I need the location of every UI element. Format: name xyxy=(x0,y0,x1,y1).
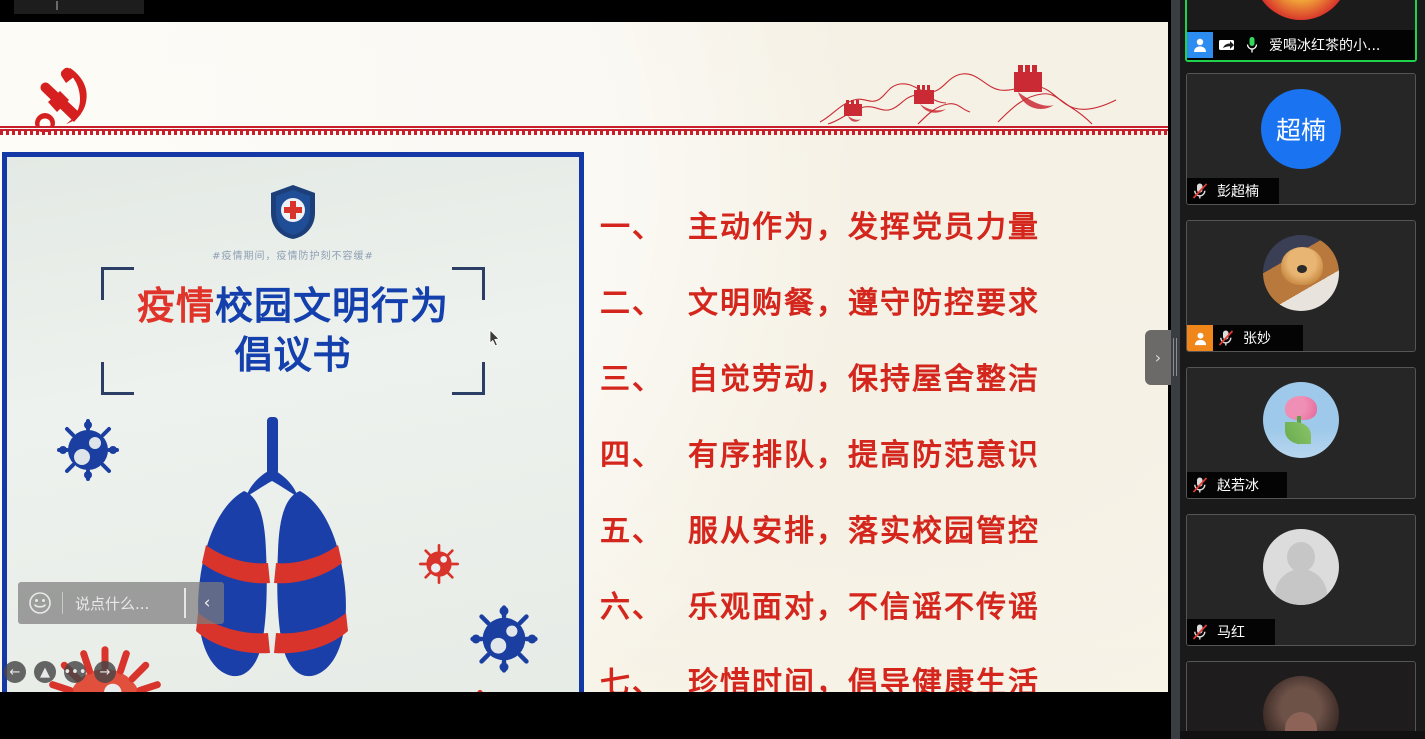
list-item-number: 五、 xyxy=(600,506,688,550)
virus-blue-right-icon xyxy=(467,602,541,676)
participant-tile[interactable]: 马红 xyxy=(1186,514,1416,646)
stage-controls: ← ▲ ••• → xyxy=(2,661,116,683)
avatar-initials: 超楠 xyxy=(1261,89,1341,169)
poster-hashtag: #疫情期间，疫情防护刻不容缓# xyxy=(7,247,579,262)
microphone-muted-icon xyxy=(1187,623,1213,641)
forward-arrow-button[interactable]: → xyxy=(94,661,116,683)
participant-name: 爱喝冰红茶的小... xyxy=(1265,35,1380,55)
avatar xyxy=(1263,382,1339,458)
participant-tile[interactable]: 超楠 彭超楠 xyxy=(1186,73,1416,205)
comment-input[interactable]: 说点什么... xyxy=(63,593,184,614)
participant-tile[interactable]: 张妙 xyxy=(1186,220,1416,352)
grip-line xyxy=(1173,338,1174,376)
collapse-rail-button[interactable]: › xyxy=(1145,330,1171,385)
slide-pledge-list: 一、 主动作为，发挥党员力量 二、 文明购餐，遵守防控要求 三、 自觉劳动，保持… xyxy=(600,202,1140,692)
list-item: 四、 有序排队，提高防范意识 xyxy=(600,430,1140,474)
comment-bar[interactable]: 说点什么... ‹ xyxy=(18,582,224,624)
list-item: 二、 文明购餐，遵守防控要求 xyxy=(600,278,1140,322)
co-host-person-icon xyxy=(1187,325,1213,351)
list-item: 五、 服从安排，落实校园管控 xyxy=(600,506,1140,550)
avatar xyxy=(1263,235,1339,311)
list-item: 三、 自觉劳动，保持屋舍整洁 xyxy=(600,354,1140,398)
more-options-button[interactable]: ••• xyxy=(64,661,86,683)
avatar: 西安加油 xyxy=(1253,0,1349,20)
screen-share-icon xyxy=(1213,32,1239,58)
rail-footer xyxy=(1180,731,1425,739)
avatar xyxy=(1263,676,1339,739)
text-caret xyxy=(56,1,58,10)
smiley-icon[interactable] xyxy=(18,592,62,614)
participant-name: 马红 xyxy=(1213,622,1245,642)
virus-red-small-icon xyxy=(417,542,461,586)
list-item-text: 主动作为，发挥党员力量 xyxy=(688,202,1040,246)
letterbox-bottom xyxy=(0,692,1180,739)
default-person-placeholder-icon xyxy=(1263,529,1339,605)
list-item-number: 三、 xyxy=(600,354,688,398)
list-item-text: 珍惜时间，倡导健康生活 xyxy=(688,658,1040,692)
microphone-muted-icon xyxy=(1187,476,1213,494)
decorative-rule xyxy=(0,126,1168,131)
list-item-number: 四、 xyxy=(600,430,688,474)
list-item-text: 自觉劳动，保持屋舍整洁 xyxy=(688,354,1040,398)
rail-resize-grip[interactable] xyxy=(1171,0,1180,739)
slide-header-band xyxy=(0,22,1168,130)
microphone-muted-icon xyxy=(1213,329,1239,347)
list-item-text: 文明购餐，遵守防控要求 xyxy=(688,278,1040,322)
tile-name-bar: 马红 xyxy=(1187,619,1275,645)
party-emblem-hammer-sickle-icon xyxy=(30,64,102,132)
list-item-text: 乐观面对，不信谣不传谣 xyxy=(688,582,1040,626)
poster-title-line2: 倡议书 xyxy=(234,333,351,377)
participant-tile[interactable] xyxy=(1186,661,1416,739)
list-item-text: 有序排队，提高防范意识 xyxy=(688,430,1040,474)
list-item-text: 服从安排，落实校园管控 xyxy=(688,506,1040,550)
grip-line xyxy=(1176,338,1177,376)
poster-title-red: 疫情 xyxy=(137,284,215,328)
microphone-on-icon xyxy=(1239,36,1265,54)
tile-name-bar: 爱喝冰红茶的小... xyxy=(1187,30,1417,60)
tile-name-bar: 彭超楠 xyxy=(1187,178,1279,204)
list-item-number: 二、 xyxy=(600,278,688,322)
participant-rail[interactable]: 西安加油 爱喝冰红茶的小... 超楠 xyxy=(1180,0,1425,739)
virus-blue-top-icon xyxy=(55,417,121,483)
upload-button[interactable]: ▲ xyxy=(34,661,56,683)
participant-name: 彭超楠 xyxy=(1213,181,1259,201)
participant-tile[interactable]: 赵若冰 xyxy=(1186,367,1416,499)
list-item-number: 六、 xyxy=(600,582,688,626)
participant-tile[interactable]: 西安加油 爱喝冰红茶的小... xyxy=(1185,0,1417,62)
tile-name-bar: 张妙 xyxy=(1187,325,1303,351)
host-person-icon xyxy=(1187,32,1213,58)
list-item-number: 七、 xyxy=(600,658,688,692)
letterbox-top xyxy=(0,0,1180,22)
list-item: 六、 乐观面对，不信谣不传谣 xyxy=(600,582,1140,626)
back-arrow-button[interactable]: ← xyxy=(4,661,26,683)
list-item: 七、 珍惜时间，倡导健康生活 xyxy=(600,658,1140,692)
list-item-number: 一、 xyxy=(600,202,688,246)
chevron-right-icon: › xyxy=(1155,348,1161,367)
chevron-left-icon[interactable]: ‹ xyxy=(190,593,224,613)
lungs-illustration xyxy=(172,417,372,682)
tile-name-bar: 赵若冰 xyxy=(1187,472,1287,498)
microphone-muted-icon xyxy=(1187,182,1213,200)
medical-shield-icon xyxy=(267,183,319,241)
list-item: 一、 主动作为，发挥党员力量 xyxy=(600,202,1140,246)
poster-title-blue: 校园文明行为 xyxy=(215,284,449,328)
participant-name: 张妙 xyxy=(1239,328,1271,348)
comment-caret xyxy=(184,588,186,618)
great-wall-illustration xyxy=(818,60,1158,130)
tile-video-area xyxy=(1187,662,1415,739)
avatar: 超楠 xyxy=(1261,89,1341,169)
participant-name: 赵若冰 xyxy=(1213,475,1259,495)
conference-window: #疫情期间，疫情防护刻不容缓# 疫情校园文明行为 倡议书 xyxy=(0,0,1425,739)
avatar-tulip-photo xyxy=(1285,396,1317,420)
mouse-cursor xyxy=(489,329,501,347)
shared-screen-stage[interactable]: #疫情期间，疫情防护刻不容缓# 疫情校园文明行为 倡议书 xyxy=(0,0,1180,739)
window-tab-stub[interactable] xyxy=(14,0,144,14)
